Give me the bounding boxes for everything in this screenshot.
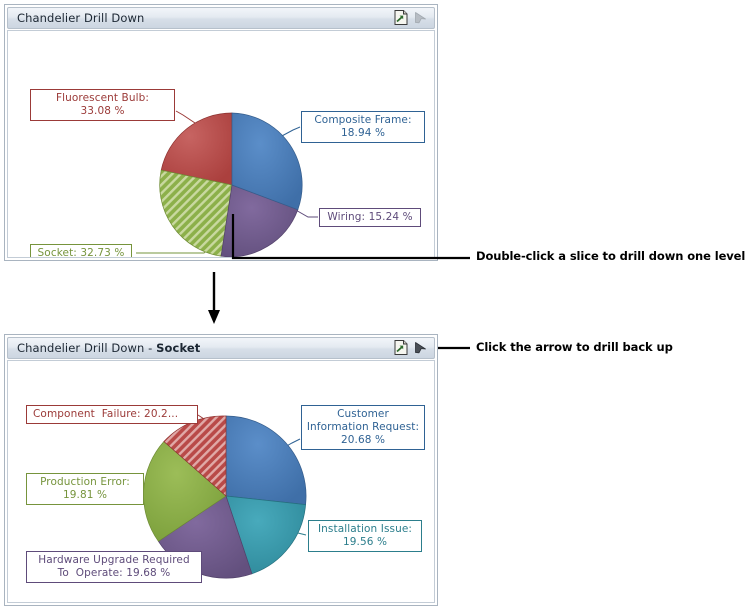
pie-label-customer-information-request: Customer Information Request: 20.68 % (301, 405, 425, 450)
pie-slice-customer-information-request[interactable] (226, 416, 306, 505)
pie-label-fluorescent-bulb: Fluorescent Bulb: 33.08 % (30, 89, 175, 121)
document-export-icon[interactable] (394, 340, 408, 355)
panel-body-bottom: Component Failure: 20.2... Customer Info… (7, 360, 435, 603)
panel-chandelier-drill-down-socket[interactable]: Chandelier Drill Down - Socket (4, 334, 438, 606)
panel-body-top: Fluorescent Bulb: 33.08 % Composite Fram… (7, 30, 435, 258)
page-title-top: Chandelier Drill Down (8, 11, 144, 25)
annotation-double-click-hint: Double-click a slice to drill down one l… (476, 249, 745, 263)
titlebar-icon-group-top (394, 10, 428, 25)
panel-titlebar-top[interactable]: Chandelier Drill Down (7, 7, 435, 29)
pie-slice-socket[interactable] (160, 170, 232, 256)
pie-slices-top[interactable] (160, 113, 303, 257)
annotation-click-arrow-hint: Click the arrow to drill back up (476, 340, 673, 354)
pie-label-component-failure: Component Failure: 20.2... (26, 405, 198, 424)
panel-titlebar-bottom[interactable]: Chandelier Drill Down - Socket (7, 337, 435, 359)
titlebar-icon-group-bottom (394, 340, 428, 355)
flow-arrow-down (208, 272, 220, 324)
drill-up-arrow-icon (413, 10, 428, 25)
pie-label-installation-issue: Installation Issue: 19.56 % (308, 520, 422, 552)
document-export-icon[interactable] (394, 10, 408, 25)
pie-label-composite-frame: Composite Frame: 18.94 % (301, 111, 425, 143)
pie-label-wiring: Wiring: 15.24 % (319, 208, 421, 227)
page-title-bottom: Chandelier Drill Down - Socket (8, 341, 200, 355)
panel-chandelier-drill-down[interactable]: Chandelier Drill Down (4, 4, 438, 261)
pie-label-hardware-upgrade-required-to-operate: Hardware Upgrade Required To Operate: 19… (26, 551, 202, 583)
drill-up-arrow-icon[interactable] (413, 340, 428, 355)
pie-label-production-error: Production Error: 19.81 % (26, 473, 144, 505)
pie-label-socket: Socket: 32.73 % (30, 244, 132, 258)
